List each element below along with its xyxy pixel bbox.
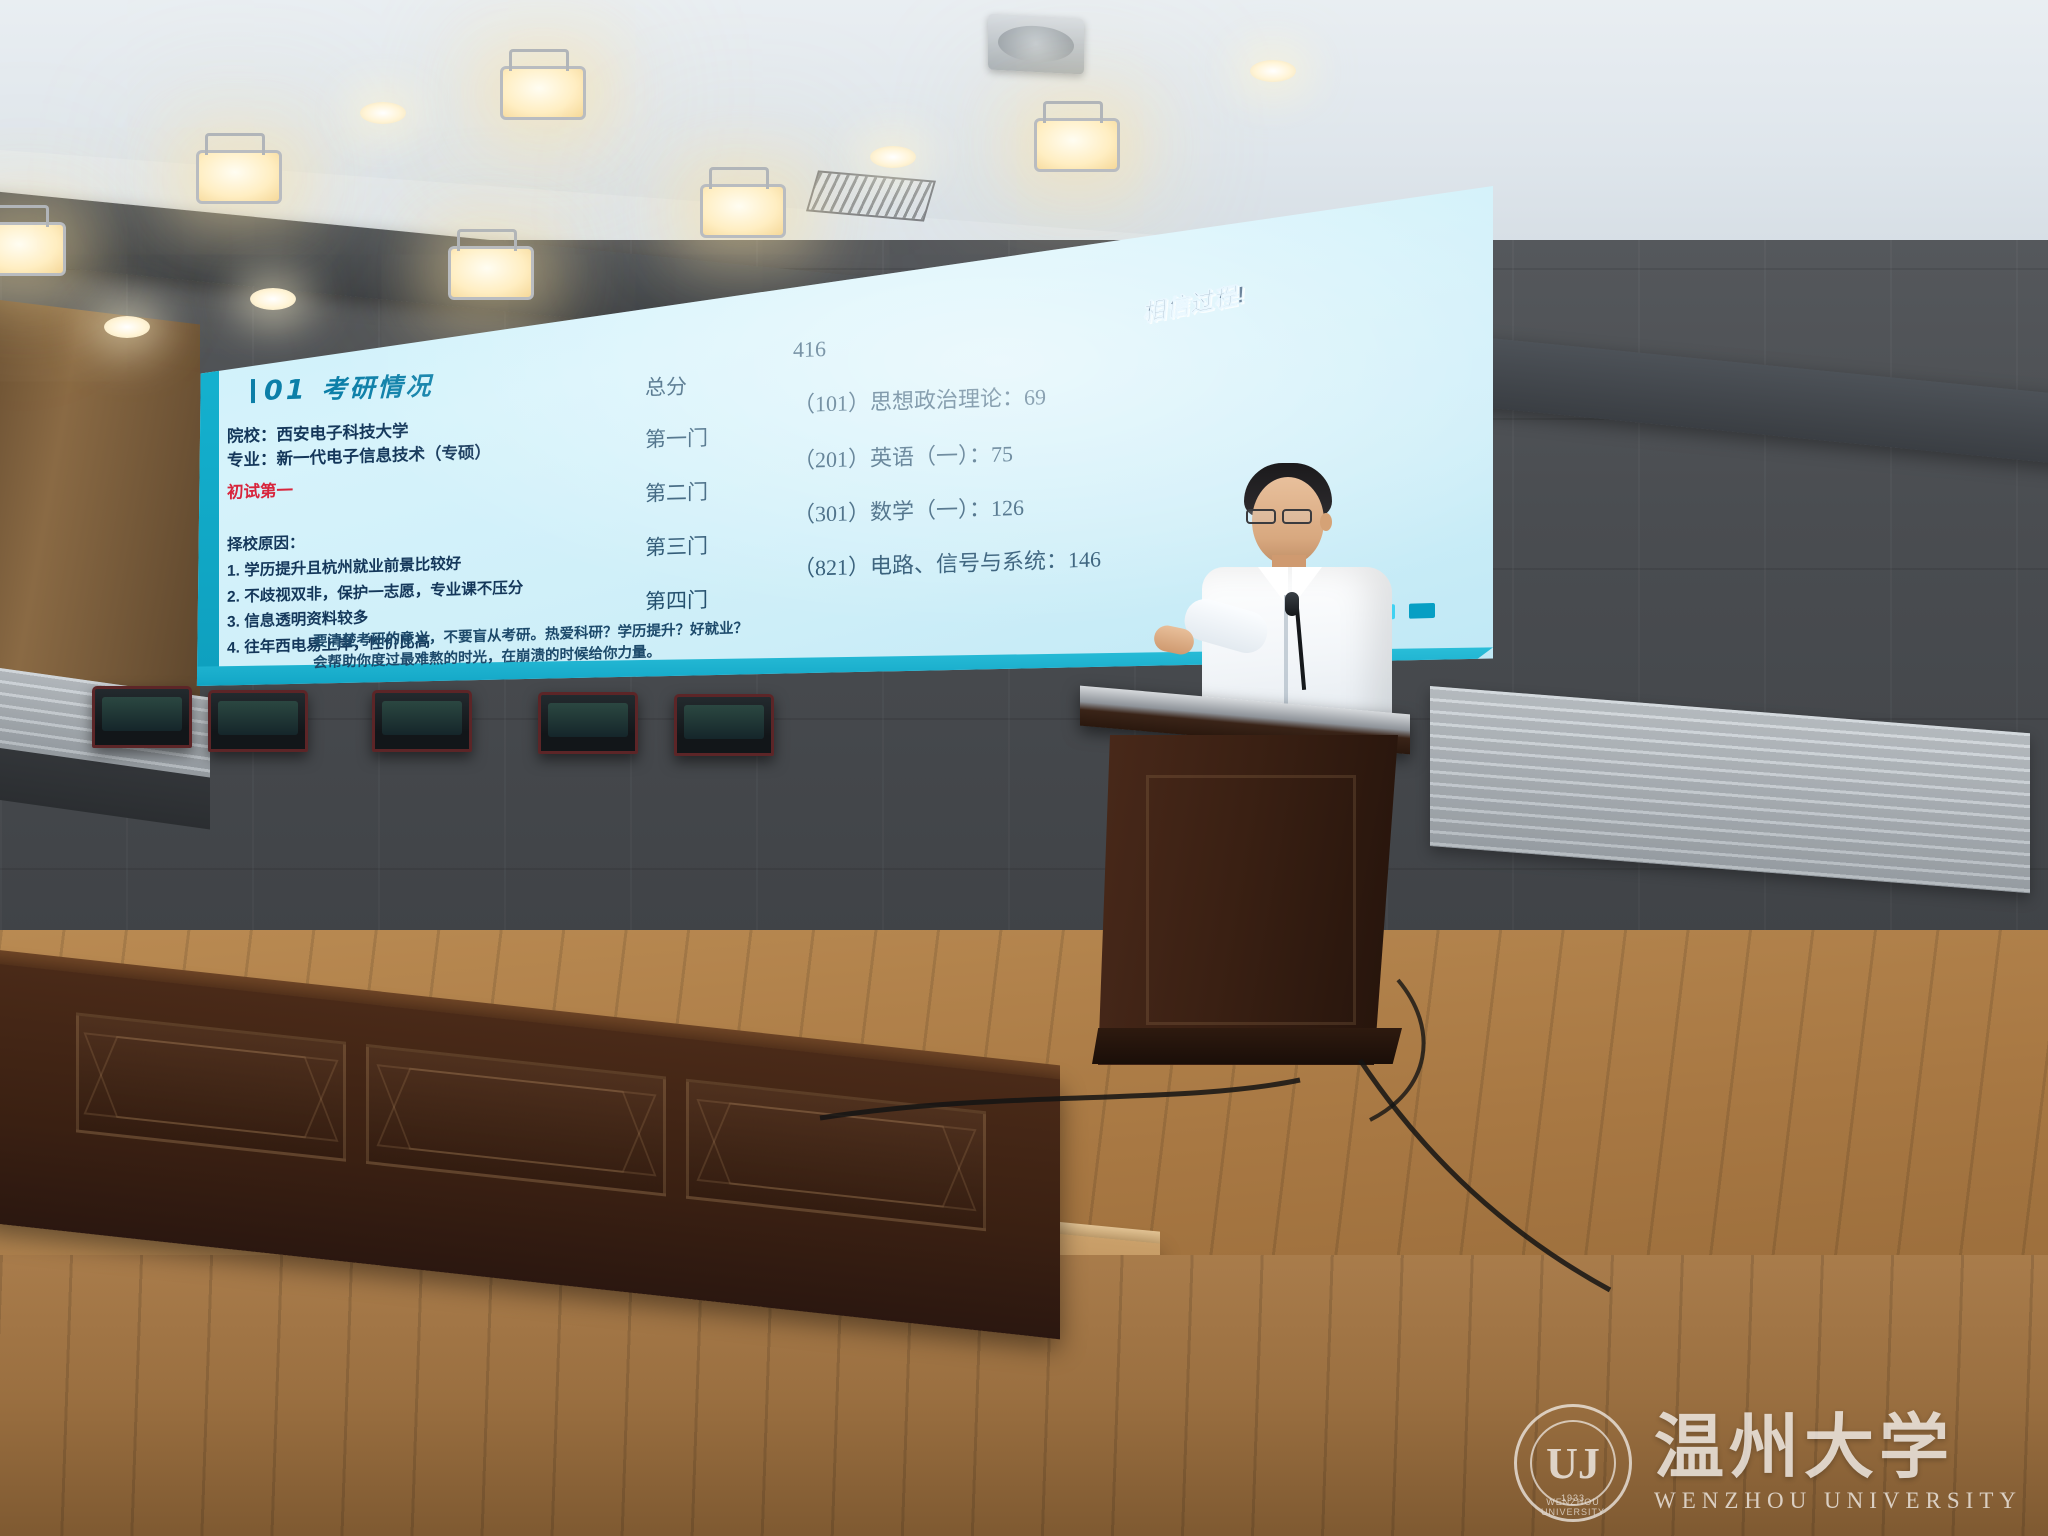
ceiling-speaker [988,13,1084,74]
score-label-2: 第二门 [645,476,708,508]
chair [208,690,308,752]
score-row-1: （101）思想政治理论：69 [793,379,1046,419]
seal-arc-text: WENZHOU UNIVERSITY [1517,1497,1629,1517]
score-label-4: 第四门 [645,584,708,616]
score-value-4: 146 [1068,546,1101,572]
section-bar-icon [251,379,255,403]
ceiling-panel-light [1034,118,1120,172]
section-number: 01 [264,374,308,406]
chair [372,690,472,752]
score-label-total: 总分 [645,370,687,401]
handwritten-note: 相信过程! [1139,275,1248,328]
ceiling-downlight [104,316,150,338]
score-label-3: 第三门 [645,530,708,562]
score-row-3: （301）数学（一）：126 [793,490,1024,529]
score-value-1: 69 [1024,384,1046,410]
chair [538,692,638,754]
ceiling-panel-light [500,66,586,120]
seal-letter: UJ [1546,1438,1600,1489]
score-value-total: 416 [793,336,826,363]
score-row-4: （821）电路、信号与系统：146 [793,541,1101,583]
ceiling-downlight [870,146,916,168]
reasons-header: 择校原因： [227,530,305,554]
score-row-2: （201）英语（一）：75 [793,436,1013,475]
score-subject-2: （201）英语（一） [793,443,969,474]
section-title-text: 考研情况 [322,371,434,404]
ceiling-downlight [1250,60,1296,82]
watermark-name-cn: 温州大学 [1654,1412,2022,1482]
score-subject-1: （101）思想政治理论 [793,386,1002,418]
score-value-3: 126 [991,495,1024,521]
university-seal-icon: UJ 1933 WENZHOU UNIVERSITY [1514,1404,1632,1522]
ceiling-panel-light [0,222,66,276]
podium [1098,735,1398,1065]
glasses-icon [1246,509,1324,525]
watermark-name-en: WENZHOU UNIVERSITY [1654,1488,2022,1514]
chair [674,694,774,756]
podium-base [1092,1028,1402,1064]
score-subject-4: （821）电路、信号与系统 [793,548,1046,581]
lecture-hall-photo: 01考研情况 院校：西安电子科技大学 专业：新一代电子信息技术（专硕） 初试第一… [0,0,2048,1536]
slide-meta: 院校：西安电子科技大学 专业：新一代电子信息技术（专硕） [227,411,657,473]
chair [92,686,192,748]
slide-highlight-rank: 初试第一 [227,477,293,503]
slide-section-title: 01考研情况 [251,366,434,408]
microphone-head [1285,592,1299,616]
score-label-1: 第一门 [645,422,708,454]
ceiling-downlight [360,102,406,124]
slide-header-wedge [193,186,613,270]
score-subject-3: （301）数学（一） [793,497,969,528]
score-value-2: 75 [991,441,1013,467]
watermark: UJ 1933 WENZHOU UNIVERSITY 温州大学 WENZHOU … [1514,1404,2022,1522]
